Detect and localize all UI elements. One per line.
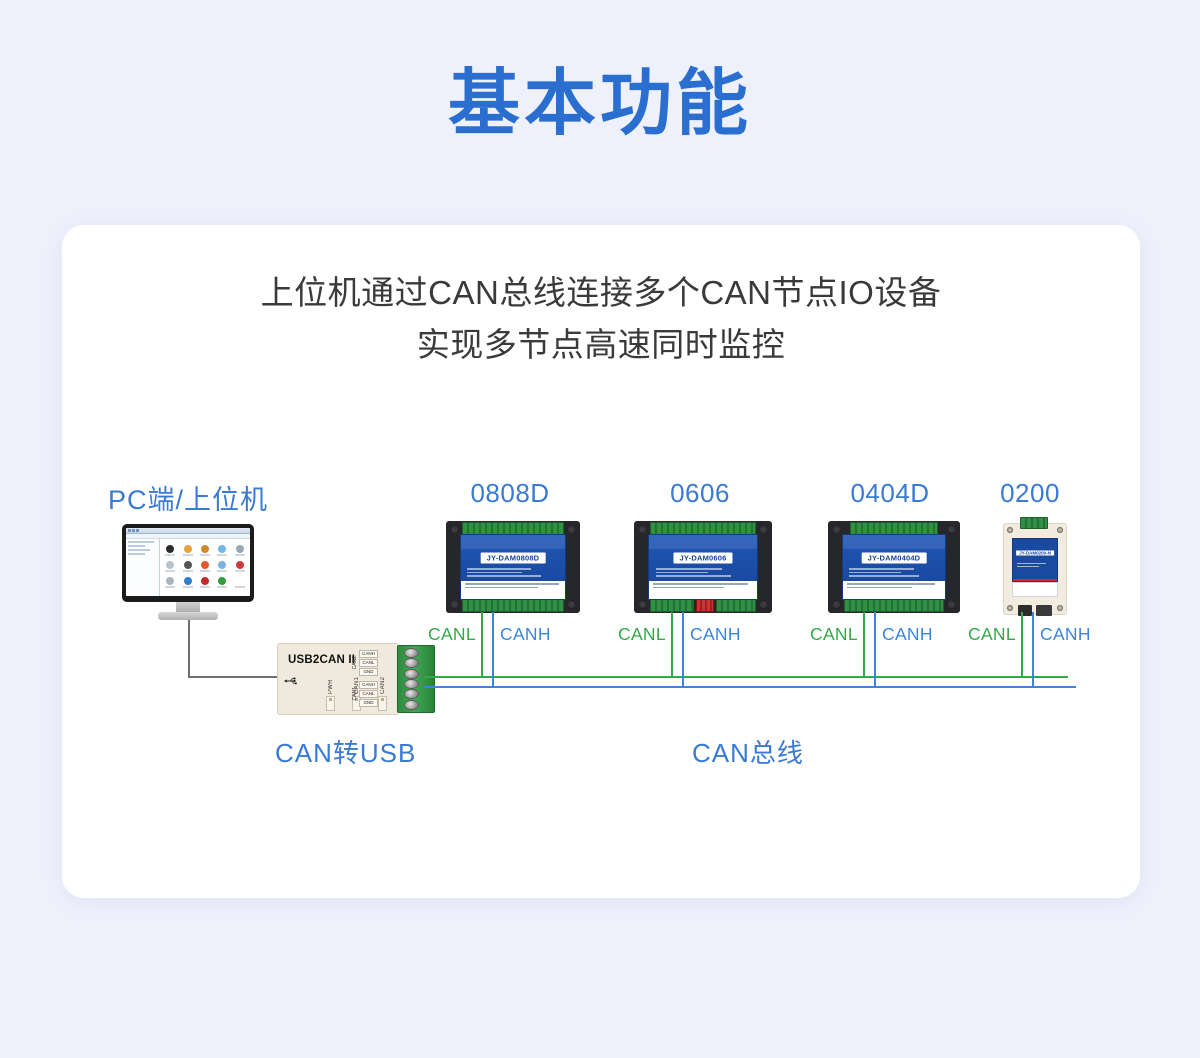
app-icon [179,575,195,590]
led-pwr: PWR [326,672,335,711]
module-terminal-bottom-mid [696,599,714,612]
app-icon [232,559,248,574]
monitor-base [158,612,218,620]
port-pin: GND [359,699,378,707]
canh-tag-0606: CANH [690,624,741,645]
led-can2: CAN2 [378,672,387,711]
port-block-can1: CAN1 CANH CANL GND [352,681,378,707]
app-icon [214,543,230,558]
device-module-0200: JY-DAM0200-N [1003,523,1065,613]
canh-drop-0606 [682,612,684,688]
adapter-title: USB2CAN II [288,654,355,666]
canl-tag-0606: CANL [618,624,666,645]
module-terminal-bottom-right [716,599,756,612]
usb-cable-horizontal [188,676,280,678]
module-model-name: JY-DAM0404D [862,552,927,563]
module-model-name: JY-DAM0606 [673,552,732,563]
module-housing: JY-DAM0606 [634,521,772,613]
canh-bus-line [424,686,1076,688]
canl-drop-0808d [481,612,483,678]
subtitle-line-2: 实现多节点高速同时监控 [62,319,1140,371]
pc-label: PC端/上位机 [108,478,268,517]
app-icon [232,575,248,590]
canl-tag-0404d: CANL [810,624,858,645]
subtitle-line-1: 上位机通过CAN总线连接多个CAN节点IO设备 [62,267,1140,319]
device-label-0404d: 0404D [820,478,960,509]
usb2can-adapter: USB2CAN II PWR CAN1 CAN2 CAN2 CANH CANL [277,643,399,715]
subtitle-block: 上位机通过CAN总线连接多个CAN节点IO设备 实现多节点高速同时监控 [62,267,1140,371]
port-block-can2: CAN2 CANH CANL GND [352,650,378,676]
module-housing: JY-DAM0404D [828,521,960,613]
canl-drop-0200 [1021,612,1023,678]
module-pcb: JY-DAM0808D [460,534,567,600]
app-icon-grid [160,539,250,596]
adapter-terminal-block [397,645,435,713]
device-label-0200: 0200 [975,478,1085,509]
canh-drop-0200 [1032,612,1034,688]
app-icon [162,543,178,558]
module-model-name: JY-DAM0808D [481,552,546,563]
module-terminal-bottom [462,599,564,612]
canl-bus-line [424,676,1068,678]
module-housing: JY-DAM0808D [446,521,580,613]
app-icon [179,559,195,574]
module-pcb: JY-DAM0404D [842,534,947,600]
page-title: 基本功能 [0,68,1200,140]
adapter-port-stack: CAN2 CANH CANL GND CAN1 CANH CANL GND [352,650,378,707]
device-label-0808d: 0808D [440,478,580,509]
app-icon [162,575,178,590]
app-icon [179,543,195,558]
port-pin: GND [359,668,378,676]
device-module-0606: JY-DAM0606 [634,521,772,613]
app-icon [197,559,213,574]
module-pcb: JY-DAM0606 [648,534,758,600]
app-icon [197,543,213,558]
can-bus-label: CAN总线 [692,733,804,770]
canh-tag-0404d: CANH [882,624,933,645]
module-terminal-top [1020,517,1048,529]
canh-tag-0808d: CANH [500,624,551,645]
module-terminal-bottom [844,599,944,612]
monitor-screen [126,528,250,596]
module-connector-right [1036,605,1052,616]
app-icon [214,575,230,590]
module-model-name: JY-DAM0200-N [1016,551,1054,556]
led-indicator [326,696,335,711]
usb-cable-vertical [188,620,190,678]
module-housing: JY-DAM0200-N [1003,523,1067,615]
app-icon [162,559,178,574]
app-icon [197,575,213,590]
canl-tag-0808d: CANL [428,624,476,645]
can-to-usb-label: CAN转USB [275,733,416,770]
device-module-0808d: JY-DAM0808D [446,521,580,613]
module-terminal-bottom-left [650,599,694,612]
module-lower-label [1012,582,1058,597]
app-body [126,539,250,596]
port-pin: CANL [359,690,378,698]
device-label-0606: 0606 [630,478,770,509]
led-indicator [378,696,387,711]
canh-tag-0200: CANH [1040,624,1091,645]
canh-drop-0404d [874,612,876,688]
port-pin: CANL [359,659,378,667]
port-pin: CANH [359,650,378,658]
device-module-0404d: JY-DAM0404D [828,521,960,613]
module-label-panel: JY-DAM0200-N [1012,538,1058,582]
monitor [122,524,254,602]
port-pin: CANH [359,681,378,689]
app-icon [214,559,230,574]
canl-tag-0200: CANL [968,624,1016,645]
canl-drop-0606 [671,612,673,678]
port-pin-list: CANH CANL GND [359,650,378,676]
canl-drop-0404d [863,612,865,678]
app-icon [232,543,248,558]
usb-icon [284,675,298,687]
port-pin-list: CANH CANL GND [359,681,378,707]
app-tree-panel [126,539,160,596]
canh-drop-0808d [492,612,494,688]
